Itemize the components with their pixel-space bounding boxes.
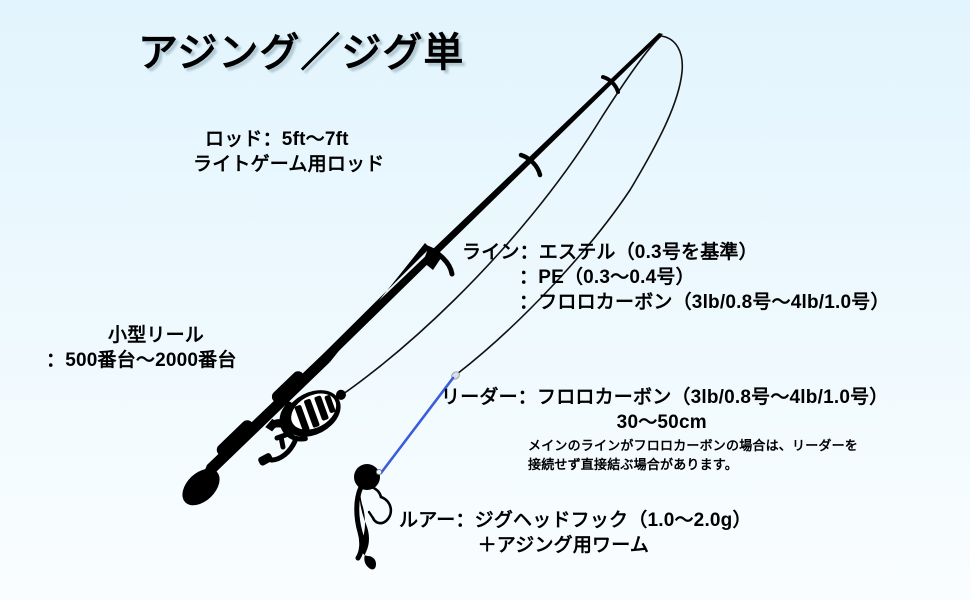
rod-guide-2	[521, 155, 540, 175]
reel-spec-line-2: ：500番台〜2000番台	[46, 348, 237, 373]
leader-spec-line-2: 30〜50cm	[441, 410, 889, 435]
line-knot	[450, 370, 461, 381]
aji-rig-diagram: アジング／ジグ単 ロッド：5ft〜7ft ライトゲーム用ロッド 小型リール ：5…	[0, 0, 970, 600]
rod-spec-line-1: ロッド：5ft〜7ft	[205, 127, 384, 152]
line-spec-line-2: ：PE（0.3〜0.4号）	[519, 265, 890, 290]
jig-head-lure	[354, 464, 391, 569]
leader-note-line-2: 接続せず直接結ぶ場合があります。	[528, 456, 858, 475]
line-spec-line-3: ：フロロカーボン（3lb/0.8号〜4lb/1.0号）	[519, 290, 890, 315]
lure-spec-line-2: ＋アジング用ワーム	[399, 533, 752, 558]
leader-note: メインのラインがフロロカーボンの場合は、リーダーを 接続せず直接結ぶ場合がありま…	[528, 437, 858, 475]
leader-note-line-1: メインのラインがフロロカーボンの場合は、リーダーを	[528, 437, 858, 456]
rod-guide-3	[603, 77, 618, 92]
reel-spec-label: 小型リール ：500番台〜2000番台	[46, 323, 237, 373]
reel-stem	[277, 432, 294, 447]
line-spec-label: ライン：エステル（0.3号を基準） ：PE（0.3〜0.4号） ：フロロカーボン…	[462, 240, 890, 315]
page-title: アジング／ジグ単	[138, 27, 464, 80]
rod-spec-label: ロッド：5ft〜7ft ライトゲーム用ロッド	[205, 127, 384, 177]
rod-spec-line-2: ライトゲーム用ロッド	[193, 152, 384, 177]
reel-spec-line-1: 小型リール	[108, 323, 237, 348]
spinning-reel	[240, 376, 358, 468]
lure-spec-label: ルアー：ジグヘッドフック（1.0〜2.0g） ＋アジング用ワーム	[399, 508, 752, 558]
rod-guide-1	[423, 246, 452, 274]
lure-spec-line-1: ルアー：ジグヘッドフック（1.0〜2.0g）	[399, 508, 752, 533]
line-spec-line-1: ライン：エステル（0.3号を基準）	[462, 240, 890, 265]
main-fishing-line	[307, 36, 682, 417]
leader-spec-label: リーダー：フロロカーボン（3lb/0.8号〜4lb/1.0号） 30〜50cm	[441, 385, 889, 435]
leader-spec-line-1: リーダー：フロロカーボン（3lb/0.8号〜4lb/1.0号）	[441, 385, 889, 410]
